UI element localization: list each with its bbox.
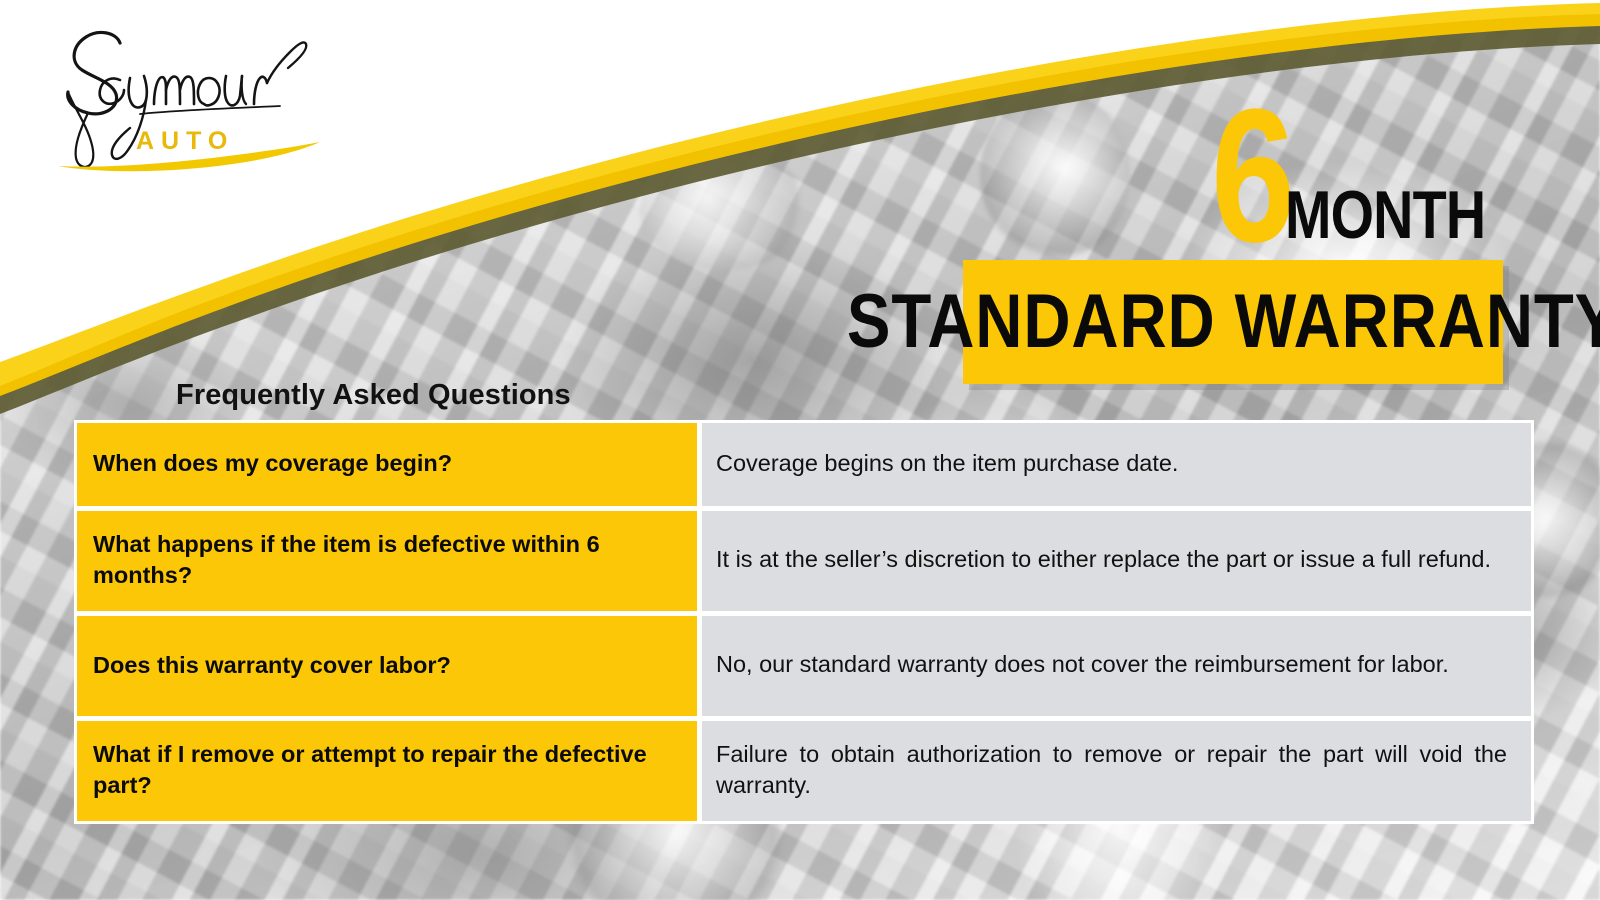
- duration-number: 6: [1211, 100, 1292, 252]
- faq-answer-cell: No, our standard warranty does not cover…: [702, 616, 1531, 716]
- faq-answer-text: No, our standard warranty does not cover…: [716, 649, 1507, 680]
- duration-unit: MONTH: [1285, 186, 1485, 244]
- faq-answer-cell: Failure to obtain authorization to remov…: [702, 721, 1531, 821]
- faq-answer-text: Failure to obtain authorization to remov…: [716, 739, 1507, 801]
- seymour-auto-logo: AUTO: [28, 18, 338, 178]
- faq-question-cell: What if I remove or attempt to repair th…: [77, 721, 697, 821]
- banner-title: STANDARD WARRANTY: [847, 284, 1600, 360]
- faq-answer-cell: Coverage begins on the item purchase dat…: [702, 423, 1531, 506]
- table-row: Does this warranty cover labor? No, our …: [77, 616, 1531, 716]
- faq-question-cell: When does my coverage begin?: [77, 423, 697, 506]
- faq-question-text: What if I remove or attempt to repair th…: [93, 739, 681, 800]
- faq-answer-cell: It is at the seller’s discretion to eith…: [702, 511, 1531, 611]
- faq-question-cell: Does this warranty cover labor?: [77, 616, 697, 716]
- standard-warranty-banner: STANDARD WARRANTY: [963, 260, 1503, 384]
- faq-question-text: Does this warranty cover labor?: [93, 650, 681, 681]
- faq-answer-text: It is at the seller’s discretion to eith…: [716, 544, 1507, 575]
- svg-text:AUTO: AUTO: [136, 127, 234, 155]
- faq-question-text: What happens if the item is defective wi…: [93, 529, 681, 590]
- table-row: When does my coverage begin? Coverage be…: [77, 423, 1531, 506]
- warranty-duration: 6 MONTH: [1205, 72, 1515, 252]
- faq-heading: Frequently Asked Questions: [176, 379, 571, 412]
- table-row: What if I remove or attempt to repair th…: [77, 721, 1531, 821]
- faq-question-text: When does my coverage begin?: [93, 448, 681, 479]
- faq-answer-text: Coverage begins on the item purchase dat…: [716, 448, 1507, 479]
- table-row: What happens if the item is defective wi…: [77, 511, 1531, 611]
- warranty-slide: AUTO 6 MONTH STANDARD WARRANTY Frequentl…: [0, 0, 1600, 900]
- faq-question-cell: What happens if the item is defective wi…: [77, 511, 697, 611]
- faq-table: When does my coverage begin? Coverage be…: [74, 420, 1534, 824]
